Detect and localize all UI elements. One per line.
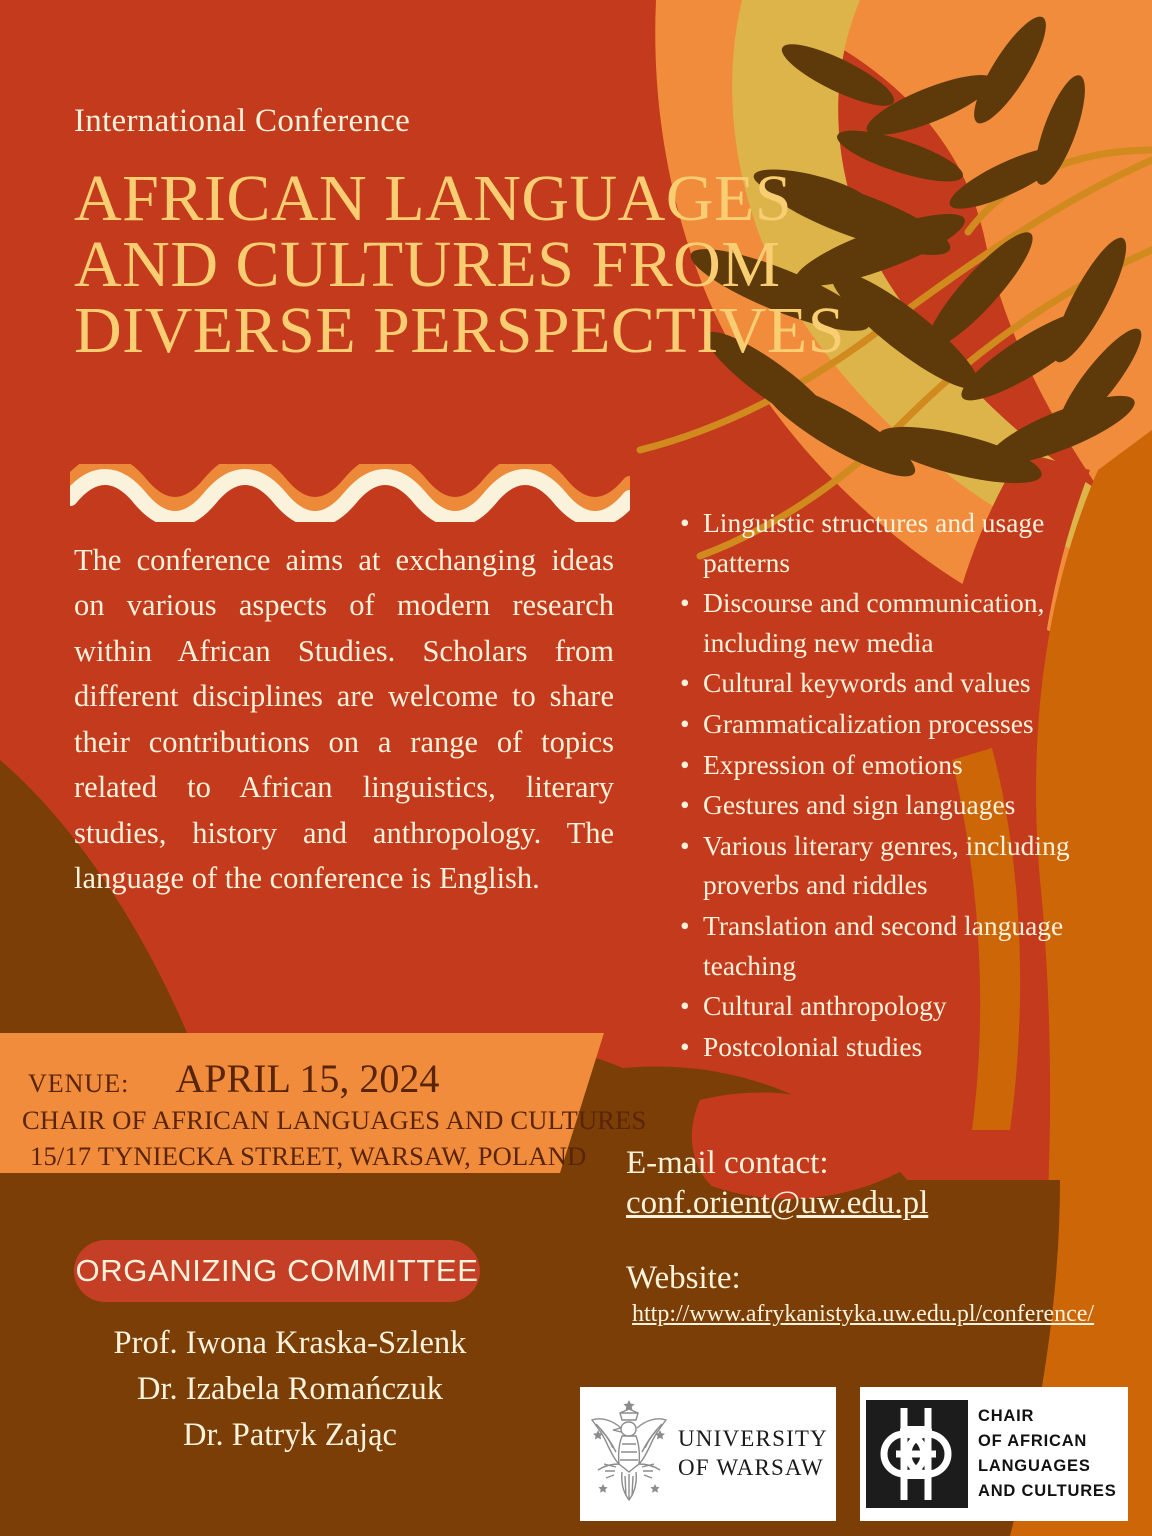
committee-member: Prof. Iwona Kraska-Szlenk xyxy=(40,1320,540,1366)
eagle-crest-icon xyxy=(586,1398,672,1510)
organizing-committee-heading: ORGANIZING COMMITTEE xyxy=(74,1240,480,1302)
list-item: Cultural keywords and values xyxy=(676,663,1106,703)
committee-member: Dr. Izabela Romańczuk xyxy=(40,1366,540,1412)
uw-line-2: OF WARSAW xyxy=(678,1454,828,1483)
topics-list: Linguistic structures and usage patterns… xyxy=(676,503,1106,1067)
venue-date-row: VENUE:APRIL 15, 2024 xyxy=(0,1055,600,1102)
page-title: AFRICAN LANGUAGES AND CULTURES FROM DIVE… xyxy=(74,166,1004,364)
university-of-warsaw-wordmark: UNIVERSITY OF WARSAW xyxy=(678,1425,828,1482)
chair-emblem-icon xyxy=(866,1400,968,1508)
email-link[interactable]: conf.orient@uw.edu.pl xyxy=(626,1183,1146,1223)
venue-institution: CHAIR OF AFRICAN LANGUAGES AND CULTURES xyxy=(22,1105,647,1136)
list-item: Cultural anthropology xyxy=(676,986,1106,1026)
wavy-divider xyxy=(70,464,630,522)
conference-poster: International Conference AFRICAN LANGUAG… xyxy=(0,0,1152,1536)
title-line-3: DIVERSE PERSPECTIVES xyxy=(74,298,1004,364)
chair-line-3: LANGUAGES xyxy=(978,1454,1117,1479)
email-label: E-mail contact: xyxy=(626,1143,1146,1183)
committee-member: Dr. Patryk Zając xyxy=(40,1412,540,1458)
university-of-warsaw-logo: UNIVERSITY OF WARSAW xyxy=(580,1387,836,1521)
chair-line-1: CHAIR xyxy=(978,1404,1117,1429)
uw-line-1: UNIVERSITY xyxy=(678,1425,828,1454)
list-item: Various literary genres, including prove… xyxy=(676,826,1106,905)
venue-address: 15/17 TYNIECKA STREET, WARSAW, POLAND xyxy=(30,1141,586,1172)
title-line-1: AFRICAN LANGUAGES xyxy=(74,166,1004,232)
title-line-2: AND CULTURES FROM xyxy=(74,232,1004,298)
chair-line-2: OF AFRICAN xyxy=(978,1429,1117,1454)
list-item: Grammaticalization processes xyxy=(676,704,1106,744)
chair-line-4: AND CULTURES xyxy=(978,1479,1117,1504)
website-label: Website: xyxy=(626,1260,1146,1297)
chair-of-african-languages-logo: CHAIR OF AFRICAN LANGUAGES AND CULTURES xyxy=(860,1387,1128,1521)
chair-glyph-svg xyxy=(866,1400,968,1508)
about-paragraph: The conference aims at exchanging ideas … xyxy=(74,538,614,902)
list-item: Linguistic structures and usage patterns xyxy=(676,503,1106,582)
contact-block: E-mail contact: conf.orient@uw.edu.pl We… xyxy=(626,1143,1146,1328)
kicker-text: International Conference xyxy=(74,103,410,140)
organizing-committee-members: Prof. Iwona Kraska-Szlenk Dr. Izabela Ro… xyxy=(40,1320,540,1458)
list-item: Postcolonial studies xyxy=(676,1027,1106,1067)
chair-wordmark: CHAIR OF AFRICAN LANGUAGES AND CULTURES xyxy=(978,1404,1117,1504)
list-item: Expression of emotions xyxy=(676,745,1106,785)
website-link[interactable]: http://www.afrykanistyka.uw.edu.pl/confe… xyxy=(632,1301,1146,1328)
list-item: Discourse and communication, including n… xyxy=(676,583,1106,662)
list-item: Translation and second language teaching xyxy=(676,906,1106,985)
conference-date: APRIL 15, 2024 xyxy=(175,1055,439,1102)
list-item: Gestures and sign languages xyxy=(676,785,1106,825)
venue-banner: VENUE:APRIL 15, 2024 CHAIR OF AFRICAN LA… xyxy=(0,1033,620,1173)
venue-label: VENUE: xyxy=(28,1069,129,1099)
